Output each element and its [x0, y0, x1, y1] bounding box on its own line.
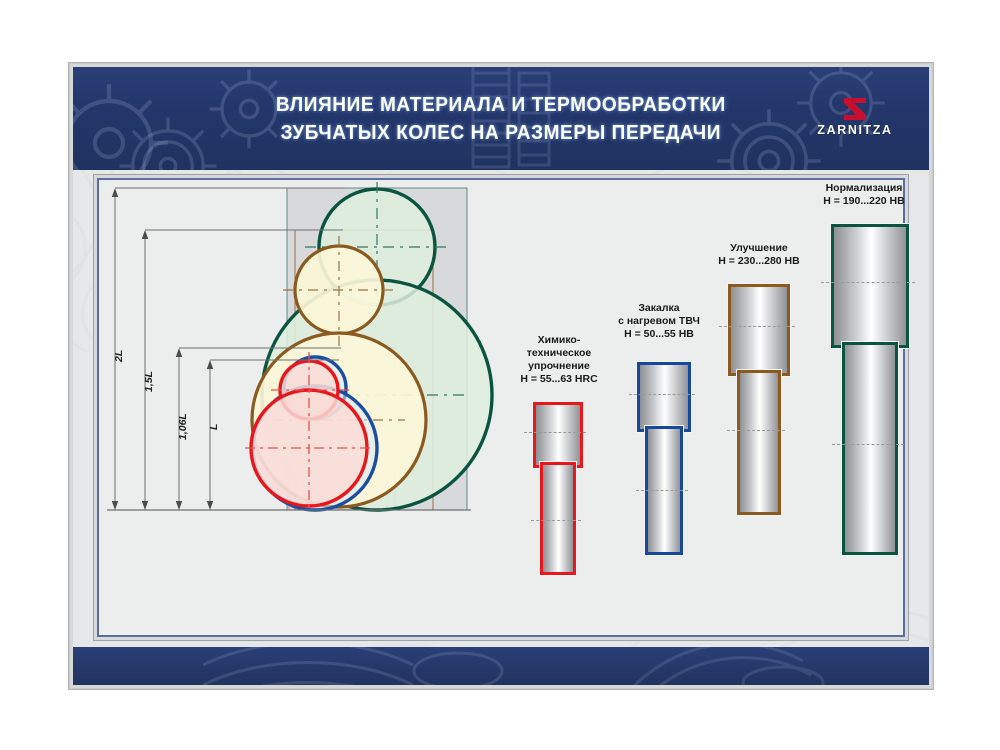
label-line: Нормализация [823, 182, 904, 195]
poster-body: N [73, 170, 929, 647]
label-line: Улучшение [718, 242, 799, 255]
centerline-lower [727, 430, 785, 431]
label-line: упрочнение [520, 360, 597, 373]
shaft-lower-block [842, 342, 898, 555]
poster-title-line-1: ВЛИЯНИЕ МАТЕРИАЛА И ТЕРМООБРАБОТКИ [276, 93, 726, 117]
dimension-label-1-5l: 1,5L [143, 371, 155, 392]
shaft-upper-block [533, 402, 583, 468]
centerline-upper [629, 394, 695, 395]
centerline-lower [832, 444, 904, 445]
shaft-normalization [821, 224, 921, 550]
column-normalization: Нормализация H = 190...220 HB [789, 170, 929, 610]
poster-inner: ВЛИЯНИЕ МАТЕРИАЛА И ТЕРМООБРАБОТКИ ЗУБЧА… [73, 67, 929, 685]
brand-logo: ZARNITZA [809, 91, 901, 143]
dimension-label-1-06l: 1,06L [177, 413, 189, 440]
label-line: H = 55...63 HRC [520, 373, 597, 386]
dimension-label-l: L [208, 424, 220, 430]
shaft-upper-block [637, 362, 691, 432]
column-label-chem-hardening: Химико- техническое упрочнение H = 55...… [520, 334, 597, 386]
centerline-upper [821, 282, 915, 283]
shaft-lower-block [540, 462, 576, 575]
brand-name: ZARNITZA [817, 123, 892, 137]
label-line: техническое [520, 347, 597, 360]
centerline-upper [524, 432, 586, 433]
shaft-chem-hardening [521, 402, 597, 570]
label-line: H = 190...220 HB [823, 195, 904, 208]
poster-title-group: ВЛИЯНИЕ МАТЕРИАЛА И ТЕРМООБРАБОТКИ ЗУБЧА… [73, 67, 929, 170]
label-line: с нагревом ТВЧ [618, 315, 700, 328]
label-line: Закалка [618, 302, 700, 315]
label-line: H = 230...280 HB [718, 255, 799, 268]
zarnitza-z-mark-icon [842, 97, 868, 121]
centerline-upper [719, 326, 795, 327]
label-line: Химико- [520, 334, 597, 347]
shaft-upper-block [831, 224, 909, 348]
label-line: H = 50...55 HB [618, 328, 700, 341]
centerline-lower [636, 490, 688, 491]
gear-watermark-icon [633, 647, 833, 685]
column-label-improvement: Улучшение H = 230...280 HB [718, 242, 799, 268]
poster-title-line-2: ЗУБЧАТЫХ КОЛЕС НА РАЗМЕРЫ ПЕРЕДАЧИ [281, 121, 721, 145]
poster-footer [73, 647, 929, 685]
column-label-hfc-quenching: Закалка с нагревом ТВЧ H = 50...55 HB [618, 302, 700, 341]
dimension-label-2l: 2L [113, 350, 125, 362]
shaft-lower-block [737, 370, 781, 515]
column-label-normalization: Нормализация H = 190...220 HB [823, 182, 904, 208]
poster-header: ВЛИЯНИЕ МАТЕРИАЛА И ТЕРМООБРАБОТКИ ЗУБЧА… [73, 67, 929, 170]
spring-watermark-icon [203, 647, 533, 685]
gear-size-comparison-diagram [99, 180, 519, 600]
shaft-upper-block [728, 284, 790, 376]
centerline-lower [531, 520, 581, 521]
poster-frame: ВЛИЯНИЕ МАТЕРИАЛА И ТЕРМООБРАБОТКИ ЗУБЧА… [68, 62, 934, 690]
content-panel: 2L 1,5L 1,06L L Химико- техническое упро… [97, 178, 905, 637]
